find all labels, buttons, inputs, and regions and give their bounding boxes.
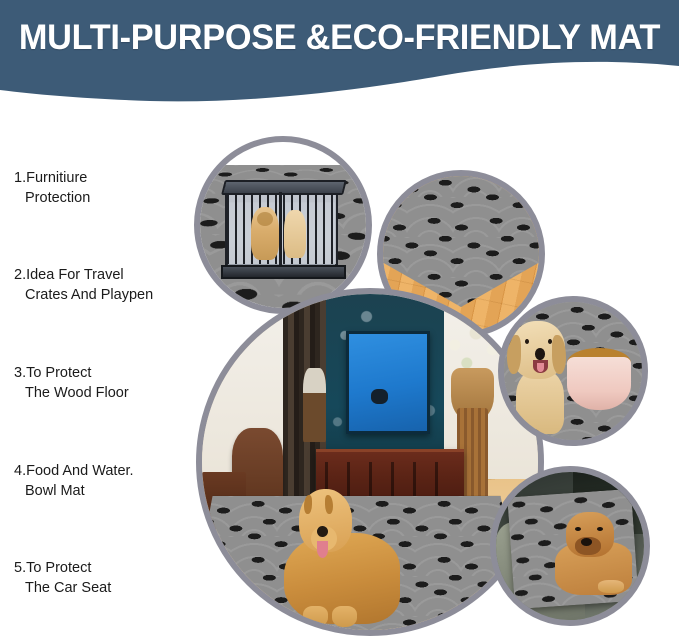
dog-tongue	[317, 541, 328, 558]
dog-on-mat	[279, 489, 400, 627]
feature-item-wood-floor: 3.To Protect The Wood Floor	[14, 363, 209, 403]
photo-crate	[194, 136, 372, 314]
crate-scene	[200, 142, 366, 308]
dog-nose	[317, 526, 328, 537]
dog-eye	[597, 527, 603, 531]
photo-living-room	[196, 288, 544, 636]
feature-line: 2.Idea For Travel	[14, 265, 209, 285]
living-room-scene	[202, 294, 538, 630]
dog-nose	[535, 348, 546, 360]
feature-item-food-water-bowl: 4.Food And Water. Bowl Mat	[14, 461, 209, 501]
crate-base	[221, 265, 346, 280]
puppy-on-mat	[555, 512, 632, 595]
feature-line: 4.Food And Water.	[14, 461, 209, 481]
photo-food-bowl	[498, 296, 648, 446]
feature-line: Protection	[14, 188, 209, 208]
dog-paw	[303, 606, 327, 627]
crate-top	[221, 180, 347, 195]
feature-line: The Car Seat	[14, 578, 209, 598]
car-seat-scene	[496, 472, 644, 620]
dog-nose	[581, 538, 592, 545]
dog-in-crate-second	[284, 210, 306, 258]
dog-crate	[225, 185, 339, 272]
dog-in-crate	[251, 207, 279, 260]
dog-ear	[325, 495, 333, 514]
page-title: MULTI-PURPOSE &ECO-FRIENDLY MAT	[7, 17, 672, 59]
feature-line: Bowl Mat	[14, 481, 209, 501]
dog-food-bowl	[567, 357, 630, 409]
feature-line: 5.To Protect	[14, 558, 209, 578]
television	[346, 331, 429, 434]
feature-item-travel-crates: 2.Idea For Travel Crates And Playpen	[14, 265, 209, 305]
feature-line: Crates And Playpen	[14, 285, 209, 305]
header-banner: MULTI-PURPOSE &ECO-FRIENDLY MAT	[0, 0, 679, 112]
dog-paw	[332, 606, 356, 627]
feature-item-car-seat: 5.To Protect The Car Seat	[14, 558, 209, 598]
dog-ear	[304, 495, 312, 514]
feature-line: 1.Furnitiure	[14, 168, 209, 188]
food-bowl-scene	[504, 302, 642, 440]
dog-beside-bowl	[507, 321, 573, 431]
dog-body	[516, 370, 564, 434]
feature-line: 3.To Protect	[14, 363, 209, 383]
table-lamp	[303, 368, 327, 442]
crate-door-divider	[279, 192, 282, 267]
feature-line: The Wood Floor	[14, 383, 209, 403]
dog-paw	[598, 580, 624, 593]
feature-item-furniture-protection: 1.Furnitiure Protection	[14, 168, 209, 208]
photo-car-seat	[490, 466, 650, 626]
